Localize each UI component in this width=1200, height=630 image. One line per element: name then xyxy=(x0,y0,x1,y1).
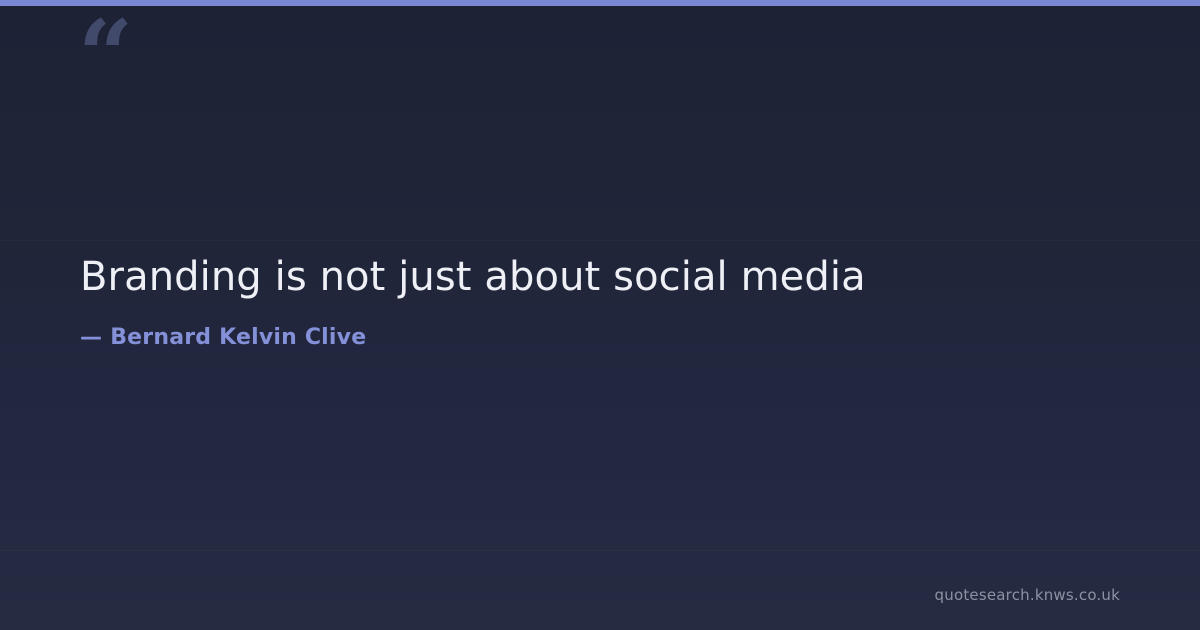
quotation-mark-icon: “ xyxy=(78,8,131,104)
em-dash: — xyxy=(80,325,102,350)
top-accent-bar xyxy=(0,0,1200,6)
background-band-seam xyxy=(0,240,1200,241)
background-band-seam xyxy=(0,550,1200,551)
quote-card: “ Branding is not just about social medi… xyxy=(0,0,1200,630)
author-name: Bernard Kelvin Clive xyxy=(110,325,366,350)
quote-text: Branding is not just about social media xyxy=(80,252,1080,303)
source-url: quotesearch.knws.co.uk xyxy=(935,586,1120,604)
quote-content: Branding is not just about social media … xyxy=(80,252,1120,352)
quote-attribution: —Bernard Kelvin Clive xyxy=(80,325,1120,351)
